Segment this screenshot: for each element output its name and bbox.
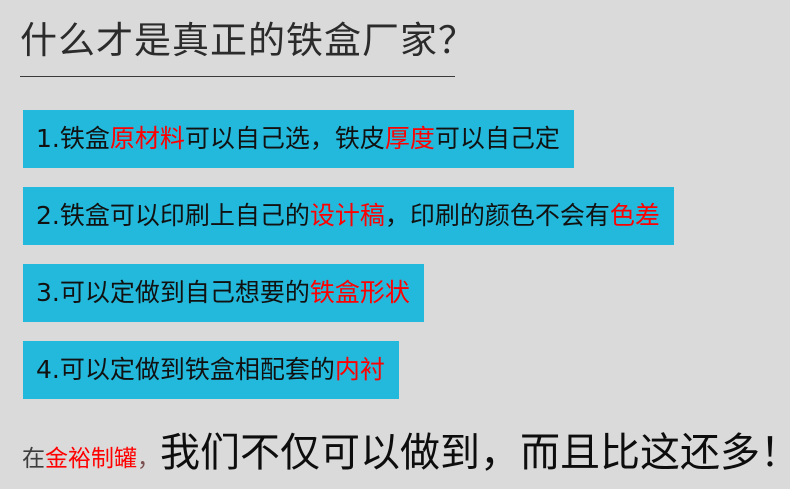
bullet-1-seg-1: 铁盒 (60, 124, 110, 153)
bullet-3-seg-2-highlight: 铁盒形状 (310, 278, 410, 307)
bullet-1-seg-4-highlight: 厚度 (385, 124, 435, 153)
bullet-number-4: 4. (36, 355, 60, 384)
bullet-2-seg-1: 铁盒可以印刷上自己的 (60, 201, 310, 230)
footer-prefix: 在 (22, 446, 45, 472)
bullet-row: 3.可以定做到自己想要的铁盒形状 (23, 264, 763, 322)
promo-banner: 什么才是真正的铁盒厂家？ 1.铁盒原材料可以自己选，铁皮厚度可以自己定 2.铁盒… (0, 0, 790, 489)
footer-tagline: 在金裕制罐，我们不仅可以做到，而且比这还多！ (22, 428, 790, 487)
footer-comma: ， (137, 445, 160, 471)
bullet-item-4: 4.可以定做到铁盒相配套的内衬 (23, 341, 399, 399)
bullet-row: 2.铁盒可以印刷上自己的设计稿，印刷的颜色不会有色差 (23, 187, 763, 245)
footer-brand-name: 金裕制罐 (45, 446, 137, 472)
bullet-1-seg-5: 可以自己定 (435, 124, 560, 153)
bullet-row: 1.铁盒原材料可以自己选，铁皮厚度可以自己定 (23, 110, 763, 168)
bullet-number-2: 2. (36, 201, 60, 230)
bullet-list: 1.铁盒原材料可以自己选，铁皮厚度可以自己定 2.铁盒可以印刷上自己的设计稿，印… (23, 110, 763, 399)
bullet-number-3: 3. (36, 278, 60, 307)
bullet-2-seg-2-highlight: 设计稿 (310, 201, 385, 230)
title-block: 什么才是真正的铁盒厂家？ (20, 18, 460, 77)
bullet-number-1: 1. (36, 124, 60, 153)
bullet-1-seg-3: 可以自己选，铁皮 (185, 124, 385, 153)
bullet-1-seg-2-highlight: 原材料 (110, 124, 185, 153)
bullet-item-1: 1.铁盒原材料可以自己选，铁皮厚度可以自己定 (23, 110, 574, 168)
bullet-2-seg-3: ，印刷的颜色不会有 (385, 201, 610, 230)
bullet-item-3: 3.可以定做到自己想要的铁盒形状 (23, 264, 424, 322)
bullet-item-2: 2.铁盒可以印刷上自己的设计稿，印刷的颜色不会有色差 (23, 187, 674, 245)
bullet-4-seg-1: 可以定做到铁盒相配套的 (60, 355, 335, 384)
bullet-2-seg-4-highlight: 色差 (610, 201, 660, 230)
footer-main-text: 我们不仅可以做到，而且比这还多！ (160, 430, 790, 476)
bullet-4-seg-2-highlight: 内衬 (335, 355, 385, 384)
bullet-3-seg-1: 可以定做到自己想要的 (60, 278, 310, 307)
bullet-row: 4.可以定做到铁盒相配套的内衬 (23, 341, 763, 399)
title-divider (20, 76, 455, 77)
page-title: 什么才是真正的铁盒厂家？ (20, 18, 460, 64)
